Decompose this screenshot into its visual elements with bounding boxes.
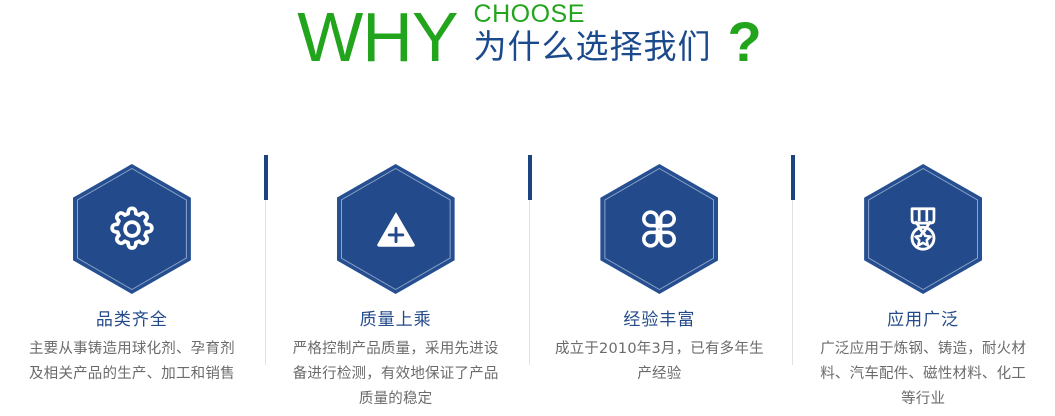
clover-icon <box>632 202 686 256</box>
feature-columns: 品类齐全 主要从事铸造用球化剂、孕育剂及相关产品的生产、加工和销售 质量上乘 严… <box>0 150 1055 416</box>
hexagon-badge-4 <box>864 164 982 294</box>
feature-card-1: 品类齐全 主要从事铸造用球化剂、孕育剂及相关产品的生产、加工和销售 <box>0 150 264 416</box>
feature-desc-1: 主要从事铸造用球化剂、孕育剂及相关产品的生产、加工和销售 <box>26 337 238 387</box>
feature-card-2: 质量上乘 严格控制产品质量，采用先进设备进行检测，有效地保证了产品质量的稳定 <box>264 150 528 416</box>
feature-desc-4: 广泛应用于炼钢、铸造，耐火材料、汽车配件、磁性材料、化工等行业 <box>817 337 1029 412</box>
column-divider-navy-1 <box>264 155 268 200</box>
column-divider-tail-1 <box>265 200 266 365</box>
feature-card-4: 应用广泛 广泛应用于炼钢、铸造，耐火材料、汽车配件、磁性材料、化工等行业 <box>791 150 1055 416</box>
feature-desc-2: 严格控制产品质量，采用先进设备进行检测，有效地保证了产品质量的稳定 <box>290 337 502 412</box>
gear-icon <box>105 202 159 256</box>
feature-card-3: 经验丰富 成立于2010年3月，已有多年生产经验 <box>528 150 792 416</box>
feature-title-4: 应用广泛 <box>887 310 959 330</box>
page-title-block: WHY CHOOSE 为什么选择我们 ? <box>0 0 1055 100</box>
title-middle-group: CHOOSE 为什么选择我们 <box>474 1 712 66</box>
title-subtitle-cn: 为什么选择我们 <box>474 28 712 66</box>
hexagon-badge-2 <box>337 164 455 294</box>
hexagon-badge-1 <box>73 164 191 294</box>
feature-title-1: 品类齐全 <box>96 310 168 330</box>
column-divider-navy-2 <box>528 155 532 200</box>
medal-icon <box>896 202 950 256</box>
feature-title-3: 经验丰富 <box>623 310 695 330</box>
triangle-plus-icon <box>369 202 423 256</box>
column-divider-tail-3 <box>792 200 793 365</box>
hexagon-badge-3 <box>600 164 718 294</box>
title-question-mark: ? <box>728 14 762 70</box>
column-divider-navy-3 <box>791 155 795 200</box>
title-inner: WHY CHOOSE 为什么选择我们 ? <box>297 0 762 72</box>
feature-desc-3: 成立于2010年3月，已有多年生产经验 <box>553 337 765 387</box>
column-divider-tail-2 <box>529 200 530 365</box>
title-why: WHY <box>297 2 457 72</box>
title-choose: CHOOSE <box>474 1 712 28</box>
feature-title-2: 质量上乘 <box>360 310 432 330</box>
